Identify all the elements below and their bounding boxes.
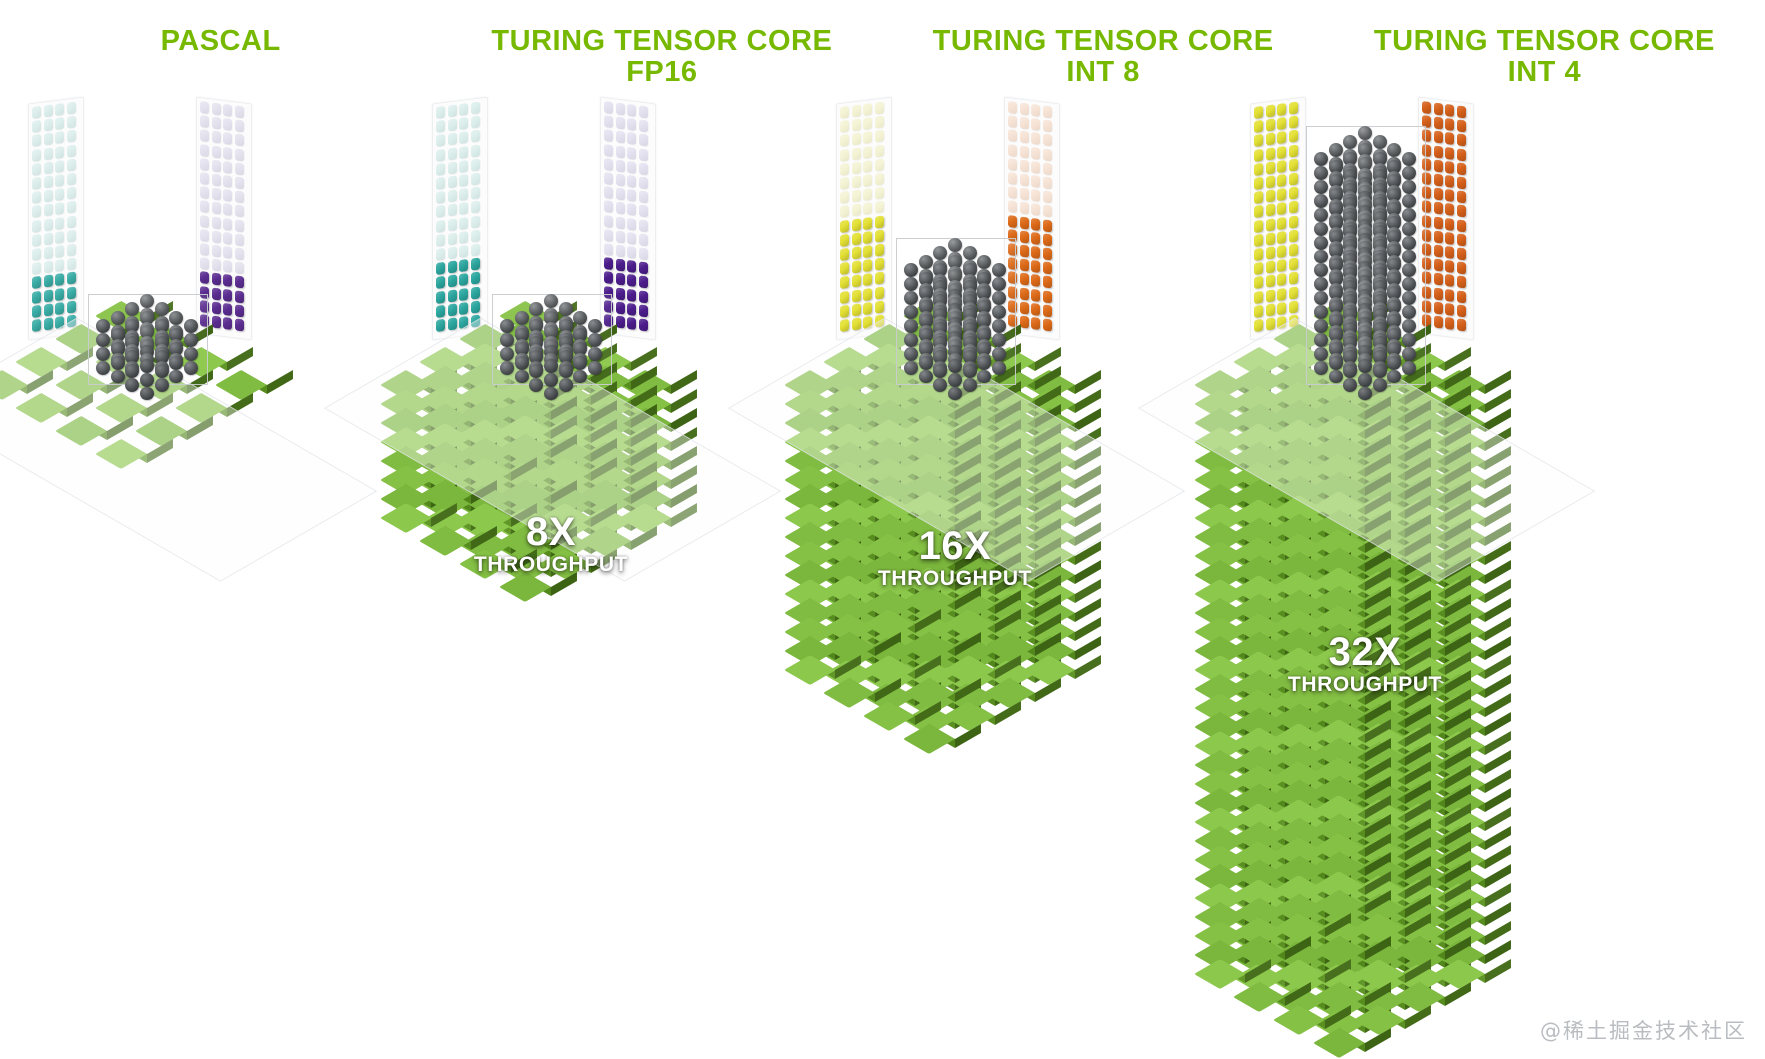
matrix-cell <box>436 305 445 318</box>
matrix-cell <box>44 218 53 231</box>
matrix-cell <box>627 246 636 259</box>
tensor-node <box>1358 373 1372 387</box>
matrix-cell <box>32 319 41 332</box>
panel-title-line2: FP16 <box>441 57 882 88</box>
matrix-cell <box>1031 217 1040 230</box>
matrix-cell <box>471 130 480 143</box>
tensor-node <box>515 370 529 384</box>
matrix-cell <box>32 163 41 176</box>
matrix-cell <box>223 274 232 287</box>
matrix-cell <box>863 103 872 116</box>
matrix-cell <box>436 290 445 303</box>
matrix-cell <box>200 257 209 270</box>
matrix-cell <box>32 219 41 232</box>
matrix-cell <box>223 246 232 259</box>
matrix-cell <box>1277 174 1286 187</box>
matrix-cell <box>200 271 209 284</box>
matrix-cell <box>852 218 861 231</box>
panel-title-line1: TURING TENSOR CORE <box>933 25 1274 57</box>
tensor-node <box>948 373 962 387</box>
matrix-cell <box>32 290 41 303</box>
matrix-cell <box>875 229 884 242</box>
matrix-cell <box>32 148 41 161</box>
matrix-cell <box>1445 260 1454 273</box>
tensor-node <box>140 359 154 373</box>
matrix-cell <box>448 275 457 288</box>
tensor-node <box>1314 361 1328 375</box>
matrix-cell <box>863 146 872 159</box>
matrix-cell <box>1020 287 1029 300</box>
matrix-cell <box>604 200 613 213</box>
matrix-cell <box>44 317 53 330</box>
matrix-cell <box>1266 119 1275 132</box>
matrix-cell <box>200 172 209 185</box>
matrix-cell <box>1445 288 1454 301</box>
matrix-cell <box>212 230 221 243</box>
matrix-cell <box>44 161 53 174</box>
matrix-cell <box>1043 205 1052 218</box>
matrix-cell <box>604 186 613 199</box>
tensor-node <box>1314 305 1328 319</box>
matrix-cell <box>200 229 209 242</box>
matrix-cell <box>1031 232 1040 245</box>
matrix-cell <box>1289 229 1298 242</box>
matrix-cell <box>448 133 457 146</box>
matrix-cell <box>448 317 457 330</box>
tensor-node <box>963 364 977 378</box>
matrix-cell <box>436 120 445 133</box>
tensor-node <box>1402 222 1416 236</box>
matrix-cell <box>1020 117 1029 130</box>
panel-title-line1: PASCAL <box>161 25 281 57</box>
matrix-cell <box>627 104 636 117</box>
matrix-cell <box>471 144 480 157</box>
matrix-cell <box>212 145 221 158</box>
matrix-cell <box>852 190 861 203</box>
tensor-node <box>904 291 918 305</box>
matrix-cell <box>471 158 480 171</box>
matrix-cell <box>223 203 232 216</box>
tensor-node <box>1314 208 1328 222</box>
matrix-cell <box>67 173 76 186</box>
matrix-cell <box>627 317 636 330</box>
matrix-cell <box>1277 231 1286 244</box>
matrix-cell <box>459 188 468 201</box>
matrix-cell <box>1020 202 1029 215</box>
matrix-slab-pascal-input-a <box>28 97 84 341</box>
matrix-cell <box>852 275 861 288</box>
matrix-cell <box>44 261 53 274</box>
matrix-cell <box>1457 304 1466 317</box>
matrix-cell <box>616 259 625 272</box>
matrix-cell <box>1445 317 1454 330</box>
matrix-cell <box>1434 145 1443 158</box>
matrix-cell <box>1445 274 1454 287</box>
matrix-cell <box>604 243 613 256</box>
matrix-cell <box>1020 273 1029 286</box>
matrix-cell <box>875 173 884 186</box>
matrix-cell <box>471 201 480 214</box>
tensor-node <box>544 359 558 373</box>
matrix-cell <box>1254 234 1263 247</box>
matrix-cell <box>459 117 468 130</box>
tensor-node <box>1387 356 1401 370</box>
matrix-cell <box>639 176 648 189</box>
matrix-cell <box>235 247 244 260</box>
matrix-cell <box>604 144 613 157</box>
tensor-node <box>140 294 154 308</box>
matrix-cell <box>235 304 244 317</box>
matrix-cell <box>875 300 884 313</box>
matrix-cell <box>436 177 445 190</box>
tensor-node <box>1402 152 1416 166</box>
matrix-cell <box>639 276 648 289</box>
matrix-slab-turing-int4-input-a <box>1250 97 1306 341</box>
matrix-cell <box>55 302 64 315</box>
matrix-cell <box>1457 176 1466 189</box>
matrix-cell <box>1434 202 1443 215</box>
matrix-cell <box>1254 262 1263 275</box>
matrix-cell <box>1289 102 1298 115</box>
matrix-cell <box>235 190 244 203</box>
matrix-cell <box>44 275 53 288</box>
matrix-cell <box>1008 172 1017 185</box>
tensor-node <box>948 238 962 252</box>
matrix-cell <box>1008 158 1017 171</box>
matrix-cell <box>32 305 41 318</box>
matrix-cell <box>471 215 480 228</box>
matrix-cell <box>1266 232 1275 245</box>
matrix-cell <box>639 233 648 246</box>
tensor-node <box>1329 143 1343 157</box>
matrix-cell <box>1043 233 1052 246</box>
matrix-cell <box>1434 315 1443 328</box>
matrix-cell <box>459 231 468 244</box>
matrix-cell <box>223 303 232 316</box>
matrix-cell <box>604 229 613 242</box>
matrix-cell <box>223 288 232 301</box>
matrix-cell <box>840 163 849 176</box>
matrix-cell <box>852 204 861 217</box>
matrix-cell <box>852 104 861 117</box>
matrix-cell <box>627 175 636 188</box>
matrix-cell <box>448 289 457 302</box>
matrix-cell <box>1031 288 1040 301</box>
matrix-cell <box>1289 158 1298 171</box>
matrix-cell <box>627 189 636 202</box>
tensor-node <box>155 302 169 316</box>
matrix-cell <box>639 219 648 232</box>
tensor-node <box>111 370 125 384</box>
matrix-cell <box>32 191 41 204</box>
matrix-cell <box>44 246 53 259</box>
matrix-cell <box>212 188 221 201</box>
matrix-cell <box>436 191 445 204</box>
matrix-cell <box>1043 176 1052 189</box>
tensor-node <box>904 319 918 333</box>
matrix-cell <box>840 177 849 190</box>
matrix-cell <box>32 248 41 261</box>
matrix-cell <box>1020 259 1029 272</box>
matrix-cell <box>235 318 244 331</box>
matrix-cell <box>1457 219 1466 232</box>
matrix-cell <box>604 158 613 171</box>
tensor-node <box>96 319 110 333</box>
matrix-cell <box>1266 218 1275 231</box>
matrix-cell <box>471 173 480 186</box>
matrix-cell <box>1254 148 1263 161</box>
matrix-cell <box>1289 173 1298 186</box>
matrix-cell <box>840 106 849 119</box>
matrix-cell <box>67 286 76 299</box>
panel-title-line2: INT 8 <box>883 57 1324 88</box>
matrix-cell <box>875 116 884 129</box>
matrix-cell <box>1043 290 1052 303</box>
matrix-cell <box>1445 246 1454 259</box>
matrix-cell <box>1020 216 1029 229</box>
matrix-cell <box>67 258 76 271</box>
matrix-cell <box>1043 148 1052 161</box>
matrix-cell <box>1043 247 1052 260</box>
matrix-cell <box>67 244 76 257</box>
matrix-cell <box>1457 134 1466 147</box>
tensor-node <box>1373 135 1387 149</box>
matrix-cell <box>1254 163 1263 176</box>
matrix-cell <box>459 259 468 272</box>
matrix-cell <box>1434 188 1443 201</box>
matrix-cell <box>1254 191 1263 204</box>
matrix-cell <box>55 288 64 301</box>
matrix-cell <box>235 119 244 132</box>
matrix-cell <box>44 104 53 117</box>
matrix-cell <box>436 148 445 161</box>
tensor-node <box>111 356 125 370</box>
matrix-cell <box>639 205 648 218</box>
panel-title: TURING TENSOR COREINT 4 <box>1324 26 1765 87</box>
matrix-cell <box>852 133 861 146</box>
matrix-cell <box>1043 190 1052 203</box>
matrix-cell <box>471 300 480 313</box>
matrix-cell <box>235 148 244 161</box>
matrix-cell <box>1020 301 1029 314</box>
matrix-cell <box>1031 161 1040 174</box>
matrix-cell <box>1277 160 1286 173</box>
matrix-cell <box>627 203 636 216</box>
matrix-cell <box>1043 318 1052 331</box>
matrix-cell <box>627 274 636 287</box>
matrix-cell <box>604 101 613 114</box>
matrix-cell <box>200 186 209 199</box>
matrix-cell <box>852 232 861 245</box>
matrix-cell <box>1289 272 1298 285</box>
matrix-cell <box>212 259 221 272</box>
matrix-cell <box>639 162 648 175</box>
tensor-node <box>155 378 169 392</box>
matrix-cell <box>67 187 76 200</box>
matrix-cell <box>616 173 625 186</box>
tensor-node <box>1329 370 1343 384</box>
panel-title: TURING TENSOR COREFP16 <box>441 26 882 87</box>
matrix-cell <box>471 258 480 271</box>
matrix-cell <box>1254 248 1263 261</box>
matrix-cell <box>875 272 884 285</box>
matrix-cell <box>1434 244 1443 257</box>
matrix-cell <box>1031 246 1040 259</box>
tensor-node <box>500 333 514 347</box>
matrix-cell <box>1457 233 1466 246</box>
matrix-cell <box>616 145 625 158</box>
matrix-slab-turing-int4-input-b <box>1418 97 1474 341</box>
matrix-cell <box>875 187 884 200</box>
tensor-node <box>559 302 573 316</box>
tensor-node <box>1402 180 1416 194</box>
matrix-cell <box>200 243 209 256</box>
tensor-node <box>169 356 183 370</box>
matrix-cell <box>852 317 861 330</box>
matrix-cell <box>1445 146 1454 159</box>
matrix-cell <box>67 116 76 129</box>
matrix-cell <box>627 217 636 230</box>
matrix-cell <box>235 176 244 189</box>
matrix-cell <box>1457 162 1466 175</box>
tensor-node <box>155 364 169 378</box>
matrix-cell <box>639 318 648 331</box>
matrix-cell <box>32 234 41 247</box>
matrix-cell <box>616 202 625 215</box>
matrix-cell <box>1457 105 1466 118</box>
matrix-cell <box>852 161 861 174</box>
matrix-cell <box>840 319 849 332</box>
tensor-node <box>919 255 933 269</box>
matrix-cell <box>223 175 232 188</box>
matrix-cell <box>212 202 221 215</box>
matrix-cell <box>639 134 648 147</box>
matrix-cell <box>1031 189 1040 202</box>
matrix-cell <box>1445 104 1454 117</box>
matrix-cell <box>840 248 849 261</box>
matrix-cell <box>1266 204 1275 217</box>
matrix-cell <box>1043 276 1052 289</box>
matrix-cell <box>44 133 53 146</box>
matrix-cell <box>1254 106 1263 119</box>
matrix-cell <box>436 319 445 332</box>
matrix-cell <box>1289 130 1298 143</box>
matrix-cell <box>1445 132 1454 145</box>
matrix-cell <box>1031 274 1040 287</box>
matrix-cell <box>875 258 884 271</box>
matrix-cell <box>840 120 849 133</box>
matrix-cell <box>448 190 457 203</box>
matrix-cell <box>223 132 232 145</box>
matrix-slab-turing-fp16-input-a <box>432 97 488 341</box>
tensor-node <box>559 378 573 392</box>
tensor-node <box>96 361 110 375</box>
matrix-cell <box>459 174 468 187</box>
matrix-cell <box>863 117 872 130</box>
matrix-cell <box>627 288 636 301</box>
tensor-node <box>140 373 154 387</box>
matrix-cell <box>212 159 221 172</box>
matrix-cell <box>459 103 468 116</box>
tensor-node <box>515 356 529 370</box>
matrix-cell <box>1008 101 1017 114</box>
matrix-cell <box>616 159 625 172</box>
matrix-cell <box>212 173 221 186</box>
matrix-cell <box>67 201 76 214</box>
tensor-node <box>1314 333 1328 347</box>
matrix-cell <box>1289 201 1298 214</box>
tensor-node <box>500 319 514 333</box>
matrix-cell <box>627 146 636 159</box>
matrix-cell <box>44 119 53 132</box>
matrix-cell <box>55 117 64 130</box>
matrix-cell <box>448 246 457 259</box>
matrix-cell <box>875 144 884 157</box>
matrix-cell <box>1434 273 1443 286</box>
tensor-node <box>1314 180 1328 194</box>
matrix-cell <box>1277 288 1286 301</box>
tensor-node <box>184 361 198 375</box>
matrix-cell <box>55 245 64 258</box>
matrix-cell <box>1043 219 1052 232</box>
matrix-cell <box>67 102 76 115</box>
matrix-cell <box>840 234 849 247</box>
matrix-cell <box>459 288 468 301</box>
matrix-cell <box>32 106 41 119</box>
matrix-cell <box>200 144 209 157</box>
matrix-cell <box>235 134 244 147</box>
matrix-cell <box>1277 103 1286 116</box>
tensor-node <box>1314 194 1328 208</box>
tensor-node <box>1373 364 1387 378</box>
matrix-cell <box>1266 303 1275 316</box>
tensor-node <box>1402 361 1416 375</box>
matrix-cell <box>212 287 221 300</box>
matrix-cell <box>223 146 232 159</box>
matrix-cell <box>1434 301 1443 314</box>
matrix-cell <box>863 259 872 272</box>
matrix-cell <box>67 144 76 157</box>
matrix-cell <box>32 120 41 133</box>
matrix-cell <box>1266 275 1275 288</box>
tensor-node <box>1314 291 1328 305</box>
matrix-cell <box>616 273 625 286</box>
matrix-cell <box>223 118 232 131</box>
matrix-cell <box>471 286 480 299</box>
matrix-cell <box>459 217 468 230</box>
matrix-cell <box>1289 215 1298 228</box>
tensor-node <box>544 373 558 387</box>
matrix-cell <box>604 257 613 270</box>
matrix-cell <box>235 261 244 274</box>
matrix-cell <box>1434 216 1443 229</box>
matrix-cell <box>1457 119 1466 132</box>
tensor-node <box>500 361 514 375</box>
tensor-node <box>544 294 558 308</box>
matrix-cell <box>639 247 648 260</box>
tensor-node <box>1343 135 1357 149</box>
matrix-cell <box>436 262 445 275</box>
matrix-cell <box>1020 230 1029 243</box>
matrix-cell <box>1020 131 1029 144</box>
matrix-cell <box>55 160 64 173</box>
matrix-cell <box>616 287 625 300</box>
matrix-cell <box>235 233 244 246</box>
matrix-cell <box>1457 261 1466 274</box>
matrix-cell <box>639 290 648 303</box>
matrix-cell <box>67 215 76 228</box>
matrix-cell <box>55 188 64 201</box>
